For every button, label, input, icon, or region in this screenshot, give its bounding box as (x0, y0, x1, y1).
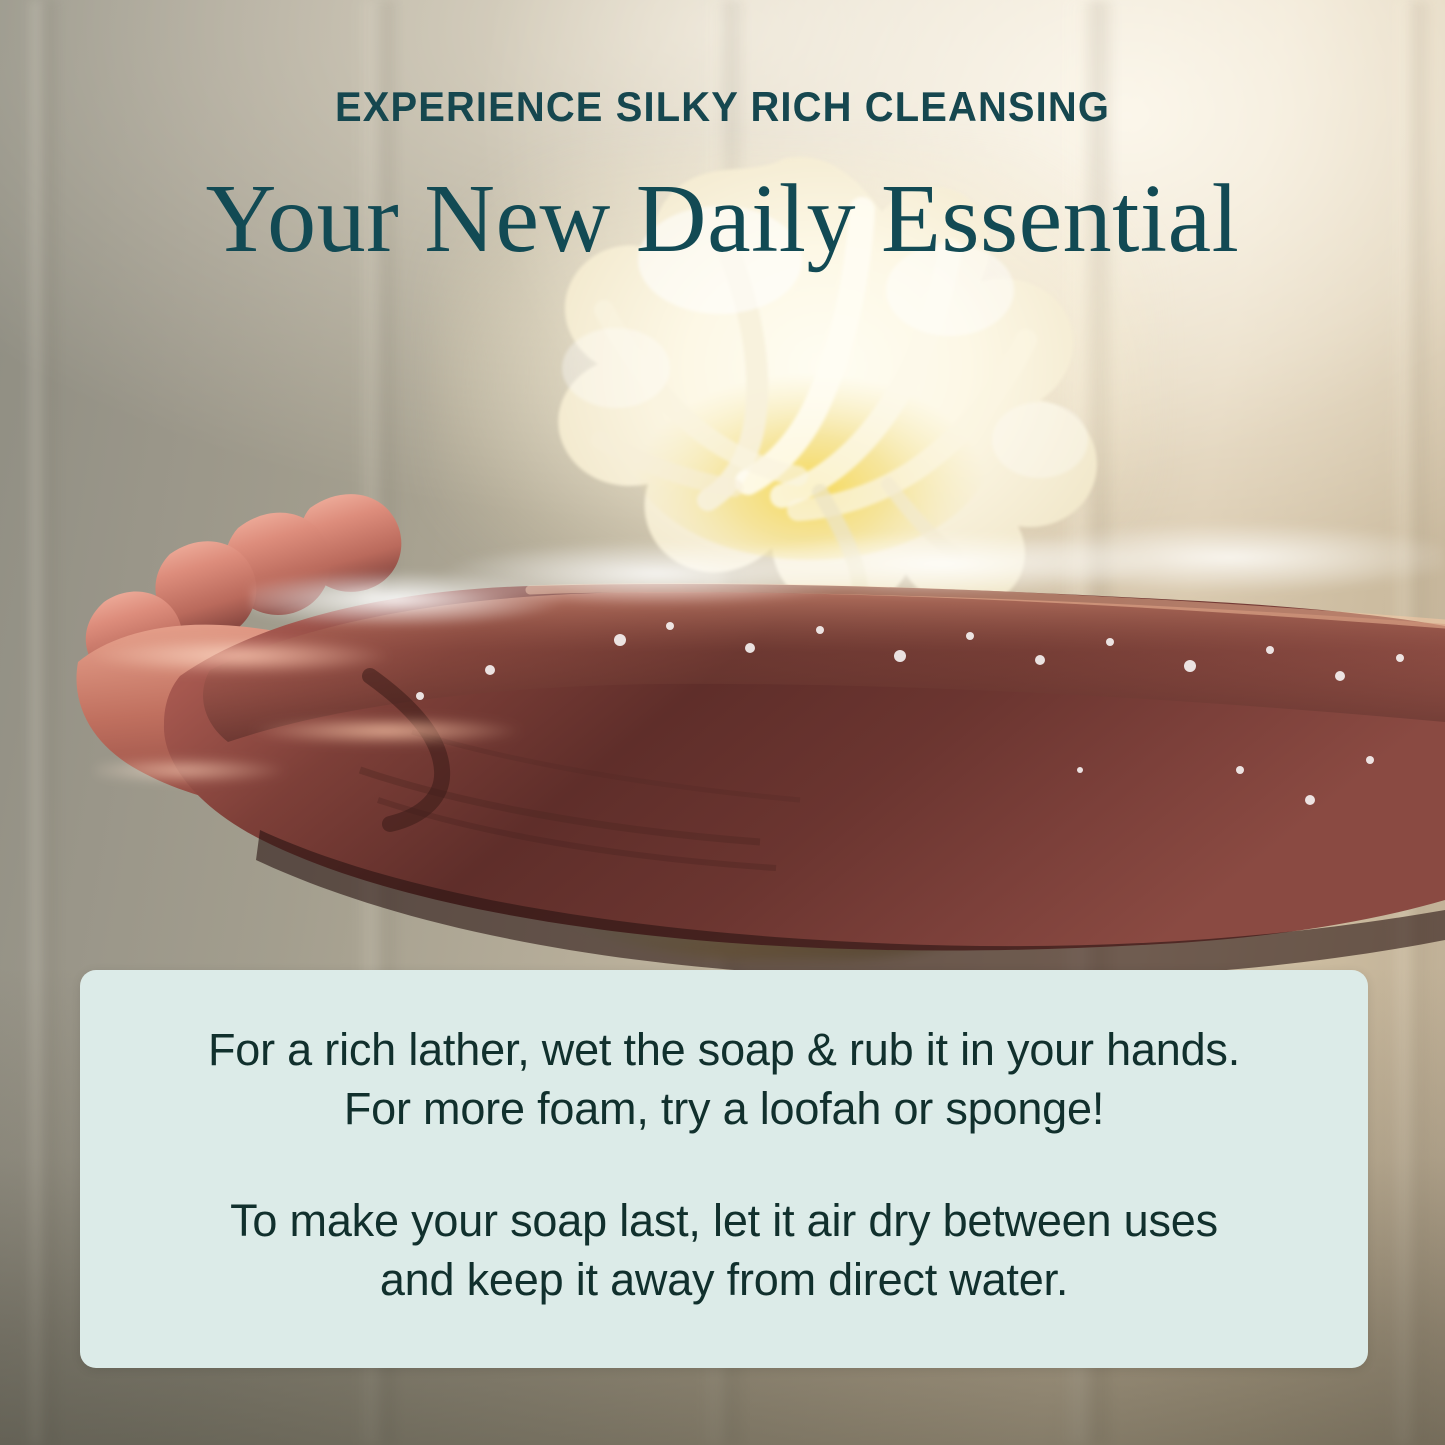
tip-lather: For a rich lather, wet the soap & rub it… (208, 1021, 1240, 1138)
tip-care: To make your soap last, let it air dry b… (230, 1192, 1218, 1309)
page-title: Your New Daily Essential (0, 168, 1445, 271)
eyebrow-heading: EXPERIENCE SILKY RICH CLEANSING (36, 86, 1409, 128)
tips-panel: For a rich lather, wet the soap & rub it… (80, 970, 1368, 1368)
promo-image: EXPERIENCE SILKY RICH CLEANSING Your New… (0, 0, 1445, 1445)
